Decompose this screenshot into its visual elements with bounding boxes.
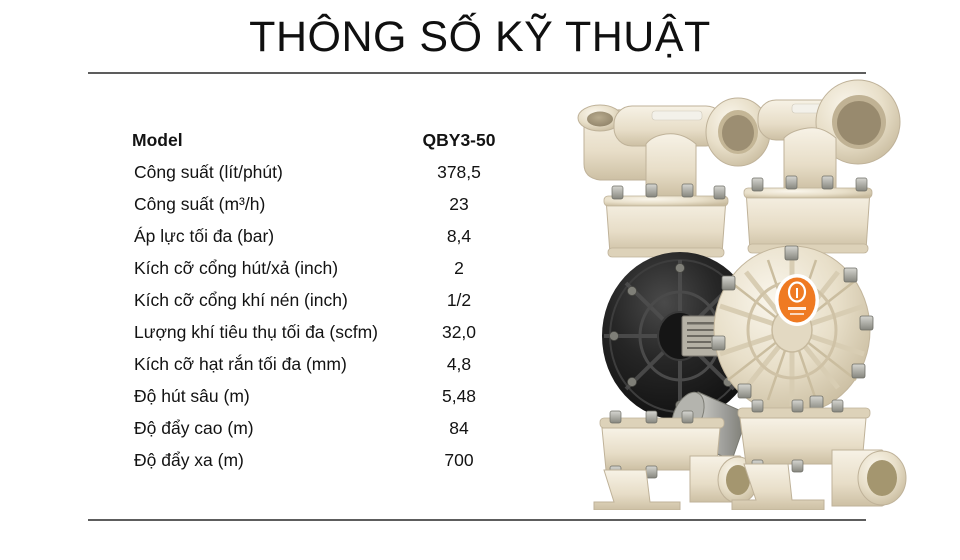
spec-label: Kích cỡ cổng hút/xả (inch) bbox=[134, 252, 338, 284]
spec-value: 5,48 bbox=[394, 380, 524, 412]
spec-label: Độ đẩy cao (m) bbox=[134, 412, 254, 444]
spec-label: Kích cỡ cổng khí nén (inch) bbox=[134, 284, 348, 316]
divider-top bbox=[88, 72, 866, 74]
spec-value: 8,4 bbox=[394, 220, 524, 252]
spec-label: Áp lực tối đa (bar) bbox=[134, 220, 274, 252]
spec-value: 1/2 bbox=[394, 284, 524, 316]
spec-value: 23 bbox=[394, 188, 524, 220]
table-row: Độ hút sâu (m)5,48 bbox=[124, 380, 524, 412]
table-row: Lượng khí tiêu thụ tối đa (scfm)32,0 bbox=[124, 316, 524, 348]
spec-label: Công suất (m³/h) bbox=[134, 188, 265, 220]
table-row: Kích cỡ cổng hút/xả (inch)2 bbox=[124, 252, 524, 284]
upper-flange-left bbox=[604, 196, 728, 257]
bottom-manifold-right bbox=[732, 400, 906, 510]
spec-value: 84 bbox=[394, 412, 524, 444]
divider-bottom bbox=[88, 519, 866, 521]
specification-table: Model QBY3-50 Công suất (lít/phút)378,5C… bbox=[124, 124, 524, 476]
spec-value: 32,0 bbox=[394, 316, 524, 348]
spec-label: Công suất (lít/phút) bbox=[134, 156, 283, 188]
spec-label: Độ hút sâu (m) bbox=[134, 380, 250, 412]
table-row: Độ đẩy xa (m)700 bbox=[124, 444, 524, 476]
table-row: Độ đẩy cao (m)84 bbox=[124, 412, 524, 444]
spec-label: Kích cỡ hạt rắn tối đa (mm) bbox=[134, 348, 347, 380]
page-title: THÔNG SỐ KỸ THUẬT bbox=[0, 14, 960, 61]
header-label-model: Model bbox=[132, 124, 183, 156]
table-row: Kích cỡ hạt rắn tối đa (mm)4,8 bbox=[124, 348, 524, 380]
table-row: Áp lực tối đa (bar)8,4 bbox=[124, 220, 524, 252]
table-row: Kích cỡ cổng khí nén (inch)1/2 bbox=[124, 284, 524, 316]
spec-label: Lượng khí tiêu thụ tối đa (scfm) bbox=[134, 316, 378, 348]
spec-label: Độ đẩy xa (m) bbox=[134, 444, 244, 476]
table-header-row: Model QBY3-50 bbox=[124, 124, 524, 156]
spec-value: 4,8 bbox=[394, 348, 524, 380]
spec-value: 2 bbox=[394, 252, 524, 284]
product-image-pump bbox=[570, 78, 960, 510]
table-row: Công suất (lít/phút)378,5 bbox=[124, 156, 524, 188]
header-value-model: QBY3-50 bbox=[394, 124, 524, 156]
table-row: Công suất (m³/h)23 bbox=[124, 188, 524, 220]
spec-value: 700 bbox=[394, 444, 524, 476]
spec-sheet-page: THÔNG SỐ KỸ THUẬT Model QBY3-50 Công suấ… bbox=[0, 0, 960, 560]
pump-illustration bbox=[570, 78, 960, 510]
top-manifold bbox=[578, 80, 900, 196]
brand-badge bbox=[775, 274, 819, 326]
spec-value: 378,5 bbox=[394, 156, 524, 188]
diaphragm-cover-right-cream bbox=[712, 246, 873, 414]
upper-flange-right bbox=[744, 188, 872, 253]
